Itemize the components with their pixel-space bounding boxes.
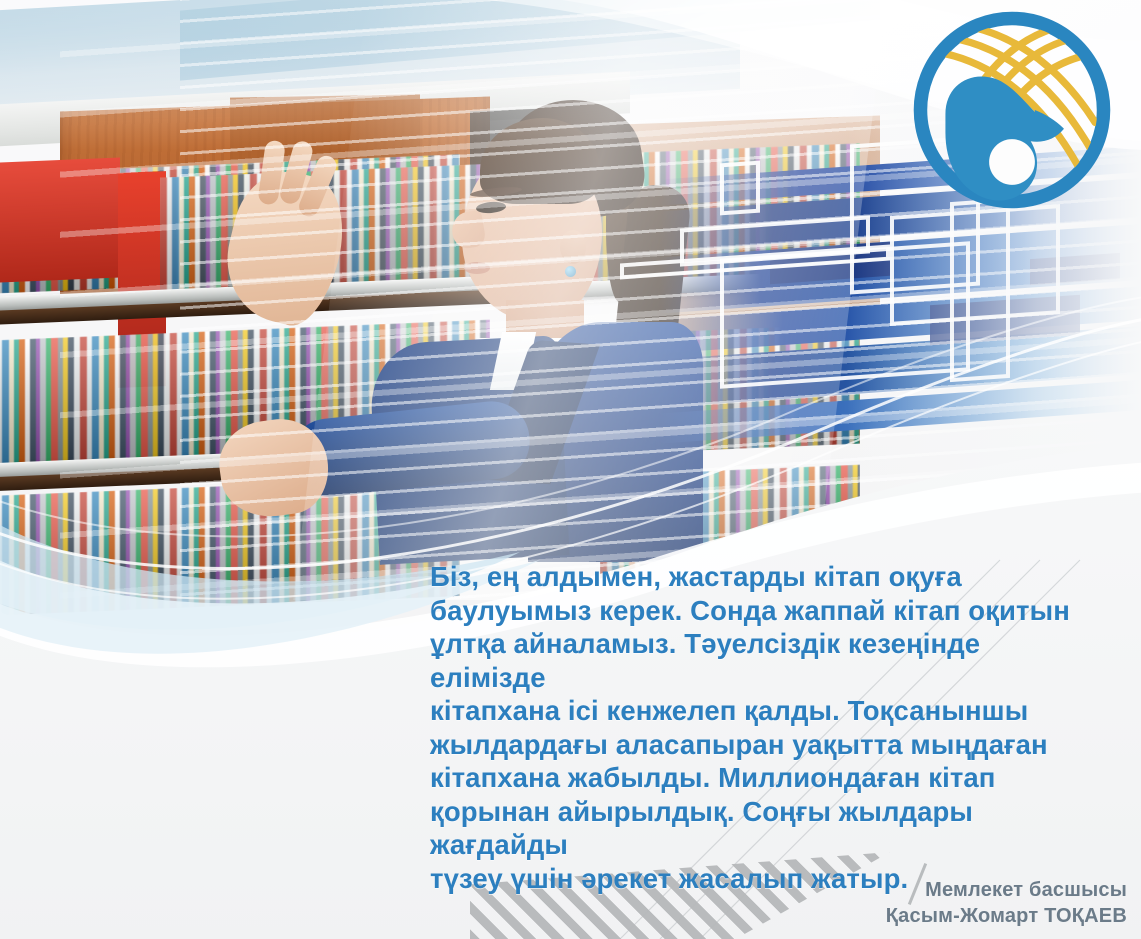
earring [565, 266, 576, 277]
akorda-emblem-logo [908, 6, 1116, 214]
attribution-role: Мемлекет басшысы [886, 877, 1127, 903]
ear [560, 230, 586, 264]
quote-line: баулуымыз керек. Сонда жаппай кітап оқит… [430, 594, 1090, 628]
quote-line: қорынан айырылдық. Соңғы жылдары жағдайд… [430, 795, 1090, 862]
tech-outline-box [720, 161, 760, 216]
quote-line: кітапхана жабылды. Миллиондаған кітап [430, 761, 1090, 795]
red-book-block [0, 157, 120, 282]
quote-line: кітапхана ісі кенжелеп қалды. Тоқсаныншы [430, 694, 1090, 728]
poster-canvas: Біз, ең алдымен, жастарды кітап оқуға ба… [0, 0, 1141, 939]
tech-outline-box [950, 198, 1010, 382]
quote-line: жылдардағы аласапыран уақытта мыңдаған [430, 728, 1090, 762]
attribution: Мемлекет басшысы Қасым-Жомарт ТОҚАЕВ [886, 877, 1127, 929]
attribution-name: Қасым-Жомарт ТОҚАЕВ [886, 903, 1127, 929]
quote-line: ұлтқа айналамыз. Тәуелсіздік кезеңінде е… [430, 627, 1090, 694]
quote-text: Біз, ең алдымен, жастарды кітап оқуға ба… [430, 560, 1090, 895]
logo-eagle-inner-cut [989, 139, 1035, 185]
tech-outline-box [720, 241, 970, 388]
lips [464, 262, 490, 274]
quote-line: Біз, ең алдымен, жастарды кітап оқуға [430, 560, 1090, 594]
